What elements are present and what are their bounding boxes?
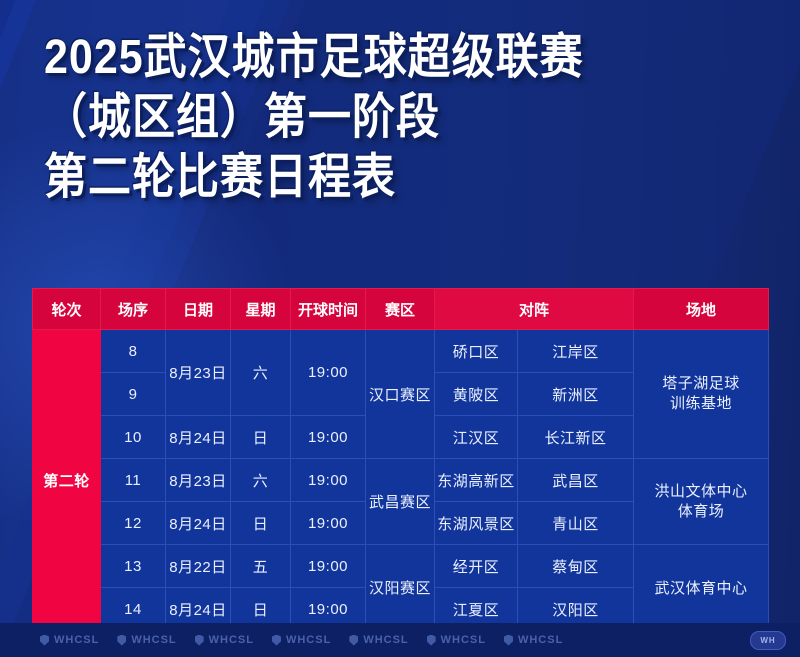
cell-match-no: 10 <box>101 416 166 459</box>
cell-match-no: 9 <box>101 373 166 416</box>
cell-weekday: 日 <box>231 416 291 459</box>
header-weekday: 星期 <box>231 289 291 330</box>
watermark-label: WHCSL <box>209 634 254 646</box>
cell-away-team: 青山区 <box>518 502 634 545</box>
cell-weekday: 五 <box>231 545 291 588</box>
watermark-item: WHCSL <box>427 634 486 646</box>
header-match-no: 场序 <box>101 289 166 330</box>
watermark-label: WHCSL <box>131 634 176 646</box>
cell-home-team: 东湖风景区 <box>435 502 518 545</box>
shield-icon <box>427 635 436 646</box>
watermark-label: WHCSL <box>54 634 99 646</box>
shield-icon <box>504 635 513 646</box>
shield-icon <box>195 635 204 646</box>
watermark-label: WHCSL <box>518 634 563 646</box>
cell-home-team: 黄陂区 <box>435 373 518 416</box>
cell-match-no: 11 <box>101 459 166 502</box>
watermark-item: WHCSL <box>195 634 254 646</box>
schedule-table: 轮次 场序 日期 星期 开球时间 赛区 对阵 场地 第二轮 8 8月23日 六 … <box>32 288 769 631</box>
poster-title: 2025武汉城市足球超级联赛 （城区组）第一阶段 第二轮比赛日程表 <box>44 28 764 201</box>
cell-venue: 洪山文体中心 体育场 <box>634 459 769 545</box>
cell-kickoff: 19:00 <box>291 545 366 588</box>
table-row: 13 8月22日 五 19:00 汉阳赛区 经开区 蔡甸区 武汉体育中心 <box>33 545 769 588</box>
watermark-label: WHCSL <box>363 634 408 646</box>
watermark-item: WHCSL <box>504 634 563 646</box>
cell-zone: 汉口赛区 <box>366 330 435 459</box>
shield-icon <box>349 635 358 646</box>
header-round: 轮次 <box>33 289 101 330</box>
cell-away-team: 新洲区 <box>518 373 634 416</box>
shield-icon <box>272 635 281 646</box>
footer-watermark-bar: WHCSL WHCSL WHCSL WHCSL WHCSL WHCSL WHCS… <box>0 623 800 657</box>
cell-date: 8月23日 <box>166 459 231 502</box>
cell-weekday: 日 <box>231 502 291 545</box>
title-line-2: （城区组）第一阶段 <box>44 88 764 147</box>
cell-home-team: 硚口区 <box>435 330 518 373</box>
watermark-item: WHCSL <box>349 634 408 646</box>
cell-weekday: 六 <box>231 459 291 502</box>
watermark-label: WHCSL <box>286 634 331 646</box>
cell-kickoff: 19:00 <box>291 502 366 545</box>
title-line-1: 2025武汉城市足球超级联赛 <box>44 28 764 87</box>
cell-away-team: 长江新区 <box>518 416 634 459</box>
shield-icon <box>117 635 126 646</box>
venue-line-1: 洪山文体中心 <box>634 482 768 502</box>
watermark-item: WHCSL <box>117 634 176 646</box>
cell-match-no: 12 <box>101 502 166 545</box>
cell-date: 8月22日 <box>166 545 231 588</box>
cell-away-team: 蔡甸区 <box>518 545 634 588</box>
cell-home-team: 经开区 <box>435 545 518 588</box>
poster-root: 2025武汉城市足球超级联赛 （城区组）第一阶段 第二轮比赛日程表 轮次 场序 <box>0 0 800 657</box>
header-kickoff: 开球时间 <box>291 289 366 330</box>
cell-home-team: 东湖高新区 <box>435 459 518 502</box>
cell-zone: 汉阳赛区 <box>366 545 435 631</box>
header-date: 日期 <box>166 289 231 330</box>
cell-zone: 武昌赛区 <box>366 459 435 545</box>
cell-match-no: 8 <box>101 330 166 373</box>
table-row: 第二轮 8 8月23日 六 19:00 汉口赛区 硚口区 江岸区 塔子湖足球 训… <box>33 330 769 373</box>
venue-line-2: 训练基地 <box>634 394 768 414</box>
title-line-3: 第二轮比赛日程表 <box>44 148 764 207</box>
watermark-item: WHCSL <box>40 634 99 646</box>
watermark-label: WHCSL <box>441 634 486 646</box>
header-zone: 赛区 <box>366 289 435 330</box>
header-venue: 场地 <box>634 289 769 330</box>
cell-away-team: 武昌区 <box>518 459 634 502</box>
watermark-item: WHCSL <box>272 634 331 646</box>
cell-weekday: 六 <box>231 330 291 416</box>
venue-line-2: 体育场 <box>634 502 768 522</box>
venue-line-1: 塔子湖足球 <box>634 374 768 394</box>
cell-match-no: 13 <box>101 545 166 588</box>
cell-kickoff: 19:00 <box>291 330 366 416</box>
cell-date: 8月24日 <box>166 416 231 459</box>
table-row: 11 8月23日 六 19:00 武昌赛区 东湖高新区 武昌区 洪山文体中心 体… <box>33 459 769 502</box>
cell-home-team: 江汉区 <box>435 416 518 459</box>
watermark-row: WHCSL WHCSL WHCSL WHCSL WHCSL WHCSL WHCS… <box>40 630 730 650</box>
cell-venue: 武汉体育中心 <box>634 545 769 631</box>
schedule-table-wrap: 轮次 场序 日期 星期 开球时间 赛区 对阵 场地 第二轮 8 8月23日 六 … <box>32 288 768 631</box>
cell-venue: 塔子湖足球 训练基地 <box>634 330 769 459</box>
cell-away-team: 江岸区 <box>518 330 634 373</box>
cell-round-label: 第二轮 <box>33 330 101 631</box>
header-matchup: 对阵 <box>435 289 634 330</box>
shield-icon <box>40 635 49 646</box>
cell-date: 8月24日 <box>166 502 231 545</box>
cell-date: 8月23日 <box>166 330 231 416</box>
cell-kickoff: 19:00 <box>291 416 366 459</box>
cell-kickoff: 19:00 <box>291 459 366 502</box>
table-header-row: 轮次 场序 日期 星期 开球时间 赛区 对阵 场地 <box>33 289 769 330</box>
footer-logo-badge: WH <box>750 631 786 650</box>
